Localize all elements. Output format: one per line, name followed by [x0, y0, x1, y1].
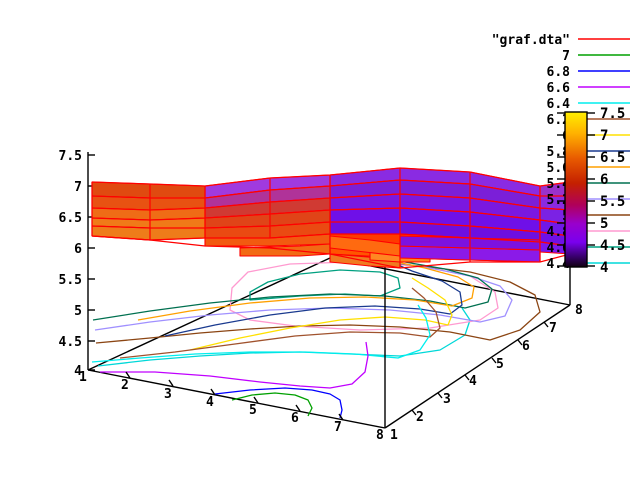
- z-tick-label: 6.5: [59, 211, 82, 226]
- x-tick-label: 8: [376, 428, 384, 443]
- contour-5_2: [95, 257, 512, 330]
- contour-7: [232, 393, 312, 416]
- colorbar-tick-label: 4: [600, 260, 608, 276]
- colorbar-tick-labels: 7.5 7 6.5 6 5.5 5 4.5 4: [600, 106, 625, 276]
- colorbar-tick-label: 4.5: [600, 238, 625, 254]
- plot-canvas: 7.5 7 6.5 6 5.5 5 4.5 4 1 2 3 4 5 6 7 8 …: [0, 0, 640, 480]
- z-tick-label: 7.5: [59, 149, 82, 164]
- y-tick-label: 8: [575, 303, 583, 318]
- legend-label: 7: [562, 49, 570, 64]
- z-tick-label: 4.5: [59, 335, 82, 350]
- x-tick-label: 1: [79, 370, 87, 385]
- x-tick-label: 5: [249, 403, 257, 418]
- colorbar-tick-label: 5.5: [600, 194, 625, 210]
- base-contour-lines: [92, 257, 540, 418]
- contour-5: [96, 258, 540, 343]
- base-plane-axes: [88, 258, 570, 428]
- legend-label: "graf.dta": [492, 33, 570, 48]
- z-tick-label: 5.5: [59, 273, 82, 288]
- colorbar-tick-label: 5: [600, 216, 608, 232]
- legend-label: 6.6: [547, 81, 571, 96]
- y-tick-label: 5: [496, 357, 504, 372]
- x-tick-label: 6: [291, 411, 299, 426]
- colorbar-tick-label: 6.5: [600, 150, 625, 166]
- x-tick-label: 4: [206, 395, 214, 410]
- y-axis-tick-labels: 1 2 3 4 5 6 7 8: [390, 303, 583, 443]
- z-tick-label: 5: [74, 304, 82, 319]
- contour-6_6: [100, 342, 368, 388]
- z-tick-label: 6: [74, 242, 82, 257]
- colorbar: 7.5 7 6.5 6 5.5 5 4.5 4: [557, 106, 625, 276]
- legend-label: 6.4: [547, 97, 571, 112]
- contour-6_8: [215, 388, 342, 418]
- colorbar-gradient: [565, 112, 587, 267]
- x-tick-label: 2: [121, 378, 129, 393]
- colorbar-tick-label: 6: [600, 172, 608, 188]
- y-tick-label: 6: [522, 339, 530, 354]
- y-tick-label: 2: [416, 410, 424, 425]
- base-axis-ticks: [126, 322, 548, 420]
- x-axis-tick-labels: 1 2 3 4 5 6 7 8: [79, 370, 384, 443]
- x-tick-label: 7: [334, 420, 342, 435]
- gnuplot-window: 7.5 7 6.5 6 5.5 5 4.5 4 1 2 3 4 5 6 7 8 …: [0, 0, 640, 480]
- y-tick-label: 4: [469, 374, 477, 389]
- colorbar-tick-label: 7: [600, 128, 608, 144]
- y-tick-label: 7: [549, 321, 557, 336]
- y-tick-label: 1: [390, 428, 398, 443]
- z-tick-label: 7: [74, 180, 82, 195]
- surface-mesh: [92, 168, 570, 268]
- y-tick-label: 3: [443, 392, 451, 407]
- z-axis-tick-labels: 7.5 7 6.5 6 5.5 5 4.5 4: [59, 149, 83, 379]
- x-tick-label: 3: [164, 387, 172, 402]
- colorbar-tick-label: 7.5: [600, 106, 625, 122]
- legend-label: 6.8: [547, 65, 571, 80]
